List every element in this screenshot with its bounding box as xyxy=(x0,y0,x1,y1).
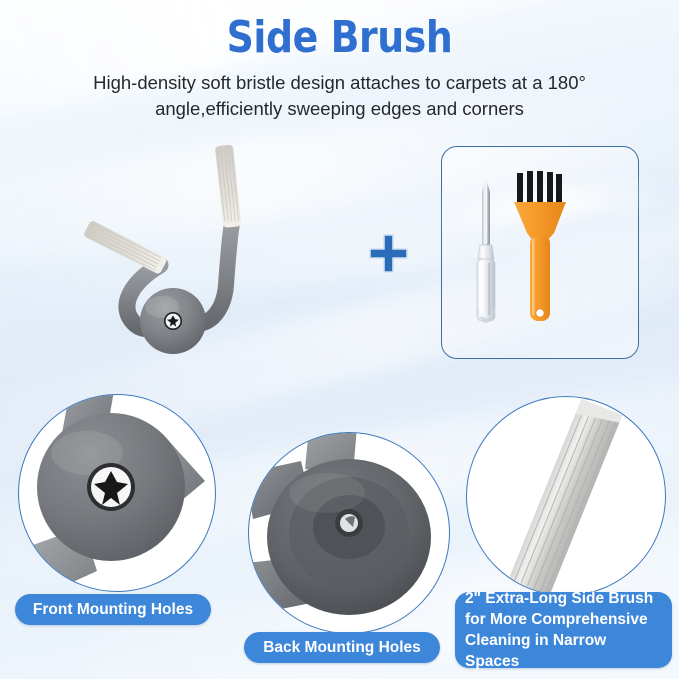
detail-circle-front-mounting-holes xyxy=(18,394,216,592)
label-bristle-line-1: 2" Extra-Long Side Brush xyxy=(465,588,662,609)
label-back-mounting-holes-text: Back Mounting Holes xyxy=(263,637,421,658)
subtitle-line-1: High-density soft bristle design attache… xyxy=(93,72,586,93)
cleaning-brush-bristles xyxy=(517,171,562,205)
page-title: Side Brush xyxy=(48,16,632,60)
accessories-image xyxy=(442,147,638,358)
label-bristle-line-2: for More Comprehensive xyxy=(465,609,662,630)
label-extra-long-side-brush[interactable]: 2" Extra-Long Side Brush for More Compre… xyxy=(455,592,672,668)
cleaning-brush-icon xyxy=(514,171,566,321)
screwdriver-icon xyxy=(477,179,495,323)
bristle-tuft-right xyxy=(215,144,241,227)
back-hub-closeup xyxy=(249,433,449,633)
front-hub-closeup xyxy=(19,395,215,591)
detail-circle-back-mounting-holes xyxy=(248,432,450,634)
bristle-closeup xyxy=(467,397,665,595)
label-back-mounting-holes[interactable]: Back Mounting Holes xyxy=(244,632,440,663)
infographic-page: Side Brush High-density soft bristle des… xyxy=(0,0,679,679)
label-front-mounting-holes-text: Front Mounting Holes xyxy=(33,599,193,620)
detail-circle-bristle-closeup xyxy=(466,396,666,596)
label-front-mounting-holes[interactable]: Front Mounting Holes xyxy=(15,594,211,625)
page-subtitle: High-density soft bristle design attache… xyxy=(32,70,647,122)
side-brush-product-image xyxy=(10,135,410,385)
plus-icon xyxy=(366,231,411,276)
bristle-tuft-left xyxy=(83,220,168,275)
subtitle-line-2: angle,efficiently sweeping edges and cor… xyxy=(32,96,647,122)
label-bristle-line-3: Cleaning in Narrow Spaces xyxy=(465,630,662,672)
accessories-box xyxy=(441,146,639,359)
